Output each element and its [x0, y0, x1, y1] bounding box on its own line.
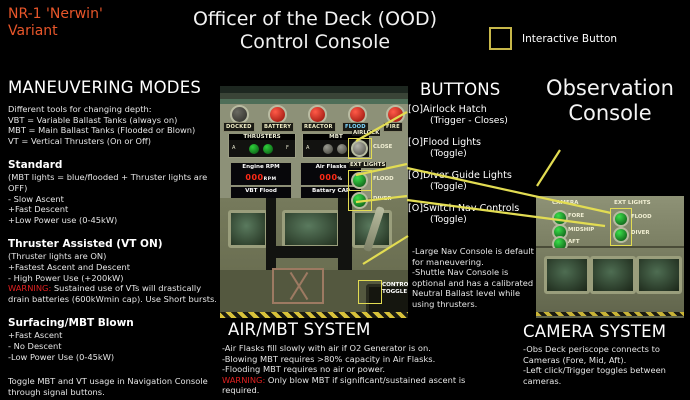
thrusters-mark-f: F	[286, 145, 289, 151]
bay-pillar-left	[266, 198, 276, 276]
camera-console-screenshot: CAMERA FORE MIDSHIP AFT EXT LIGHTS FLOOD…	[536, 196, 684, 318]
gauge-engine-rpm-value: 000RPM	[231, 172, 291, 185]
camera-system-notes: -Obs Deck periscope connects to Cameras …	[523, 344, 688, 386]
bay-window-left	[228, 210, 268, 248]
nav-note-0: -Large Nav Console is default for maneuv…	[412, 246, 540, 267]
console-green-strip	[220, 99, 408, 104]
camera-note-0: -Obs Deck periscope connects to Cameras …	[523, 344, 688, 365]
button-mode-airlock-hatch: (Trigger - Closes)	[408, 115, 543, 126]
button-mode-flood-lights: (Toggle)	[408, 148, 543, 159]
camera-screen-right	[636, 256, 682, 294]
maneuvering-intro-0: Different tools for changing depth:	[8, 104, 220, 115]
button-label-switch-nav-controls: Switch Nav Controls	[423, 203, 519, 214]
mode-thruster-line-2: - High Power Use (+200kW)	[8, 273, 220, 284]
bracket-1: [O]	[408, 137, 423, 148]
page-title-line2: Control Console	[150, 31, 480, 54]
hazard-stripe-bottom	[220, 312, 408, 318]
mode-standard-line-1: - Slow Ascent	[8, 194, 220, 205]
status-label-battery: BATTERY	[261, 122, 294, 132]
observation-console-title: Observation Console	[530, 76, 690, 126]
flood-lights-label: FLOOD	[373, 176, 394, 182]
bay-beam	[266, 246, 352, 258]
camera-panel-title: CAMERA	[552, 200, 578, 206]
console-lower-panel: CONTROL TOGGLE	[220, 198, 408, 318]
ext-flood-light-button[interactable]	[613, 211, 629, 227]
gauge-engine-rpm-label: Engine RPM	[231, 163, 291, 172]
variant-label: NR-1 'Nerwin' Variant	[8, 6, 148, 40]
airlock-hatch-button[interactable]	[351, 140, 368, 157]
thrusters-knob-right[interactable]	[263, 144, 273, 154]
legend-label: Interactive Button	[522, 33, 617, 45]
mbt-knob-right[interactable]	[337, 144, 347, 154]
camera-label-midship: MIDSHIP	[568, 227, 594, 233]
mode-thruster-line-1: +Fastest Ascent and Descent	[8, 262, 220, 273]
page-title: Officer of the Deck (OOD) Control Consol…	[150, 8, 480, 54]
control-toggle-label: CONTROL TOGGLE	[382, 282, 408, 296]
maneuvering-modes-section: MANEUVERING MODES Different tools for ch…	[8, 78, 220, 397]
button-label-flood-lights: Flood Lights	[423, 137, 481, 148]
page-title-line1: Officer of the Deck (OOD)	[150, 8, 480, 31]
diver-guide-lights-button[interactable]	[351, 192, 368, 209]
status-label-reactor: REACTOR	[301, 122, 336, 132]
airlock-title: AIRLOCK	[352, 130, 380, 136]
mode-thruster-warning: WARNING: Sustained use of VTs will drast…	[8, 283, 220, 304]
mode-standard-line-2: +Fast Descent	[8, 204, 220, 215]
button-mode-diver-guide-lights: (Toggle)	[408, 181, 543, 192]
air-mbt-warning-label: WARNING:	[222, 375, 265, 385]
button-entry-diver-guide-lights: [O]Diver Guide Lights (Toggle)	[408, 170, 543, 192]
ext-diver-light-button[interactable]	[613, 227, 629, 243]
legend: Interactive Button	[489, 27, 617, 50]
mode-standard-line-0: (MBT lights = blue/flooded + Thruster li…	[8, 172, 220, 193]
camera-label-aft: AFT	[568, 239, 580, 245]
camera-screen-left	[544, 256, 590, 294]
bay-table	[272, 268, 324, 304]
bracket-0: [O]	[408, 104, 423, 115]
mode-surfacing-name: Surfacing/MBT Blown	[8, 317, 220, 329]
camera-screen-center	[590, 256, 636, 294]
mode-surfacing-line-0: +Fast Ascent	[8, 330, 220, 341]
mode-thruster-line-0: (Thruster lights are ON)	[8, 251, 220, 262]
maneuvering-heading: MANEUVERING MODES	[8, 78, 220, 97]
console-upper-panel: DOCKED BATTERY REACTOR FLOOD FIRE THRUST…	[220, 86, 408, 198]
variant-label-line2: Variant	[8, 23, 148, 40]
button-label-airlock-hatch: Airlock Hatch	[423, 104, 487, 115]
air-mbt-note-2: -Flooding MBT requires no air or power.	[222, 364, 482, 375]
mbt-knob-left[interactable]	[323, 144, 333, 154]
flood-lights-button[interactable]	[351, 172, 368, 189]
maneuvering-intro-3: VT = Vertical Thrusters (On or Off)	[8, 136, 220, 147]
mode-standard-name: Standard	[8, 159, 220, 171]
airlock-close-label: CLOSE	[373, 144, 392, 150]
gauge-air-flasks-unit: %	[338, 177, 343, 182]
maneuvering-intro-2: MBT = Main Ballast Tanks (Flooded or Blo…	[8, 125, 220, 136]
camera-console-lower	[536, 248, 684, 318]
gauge-vbt-flood-label: VBT Flood	[231, 187, 291, 196]
hazard-stripe-camera	[536, 312, 684, 316]
button-entry-flood-lights: [O]Flood Lights (Toggle)	[408, 137, 543, 159]
bracket-3: [O]	[408, 203, 423, 214]
bay-wall	[220, 198, 408, 270]
nav-console-notes: -Large Nav Console is default for maneuv…	[412, 246, 540, 310]
mode-surfacing-line-2: -Low Power Use (0-45kW)	[8, 352, 220, 363]
buttons-heading: BUTTONS	[420, 80, 500, 99]
button-mode-switch-nav-controls: (Toggle)	[408, 214, 543, 225]
buttons-list: [O]Airlock Hatch (Trigger - Closes) [O]F…	[408, 104, 543, 236]
mode-thruster-name: Thruster Assisted (VT ON)	[8, 238, 220, 250]
camera-note-1: -Left click/Trigger toggles between came…	[523, 365, 688, 386]
button-entry-switch-nav-controls: [O]Switch Nav Controls (Toggle)	[408, 203, 543, 225]
status-lamp-row: DOCKED BATTERY REACTOR FLOOD FIRE	[220, 105, 408, 131]
thrusters-mark-a: A	[232, 145, 235, 151]
warning-label: WARNING:	[8, 283, 51, 293]
button-label-diver-guide-lights: Diver Guide Lights	[423, 170, 512, 181]
air-mbt-heading: AIR/MBT SYSTEM	[228, 320, 371, 339]
ood-console-screenshot: DOCKED BATTERY REACTOR FLOOD FIRE THRUST…	[216, 86, 408, 318]
camera-console-upper: CAMERA FORE MIDSHIP AFT EXT LIGHTS FLOOD…	[536, 196, 684, 248]
maneuvering-footer: Toggle MBT and VT usage in Navigation Co…	[8, 376, 220, 397]
control-toggle-highlight[interactable]	[358, 280, 382, 304]
air-mbt-warning: WARNING: Only blow MBT if significant/su…	[222, 375, 482, 396]
thrusters-knob-left[interactable]	[249, 144, 259, 154]
diver-lights-label: DIVER	[373, 196, 392, 202]
mode-standard-line-3: +Low Power use (0-45kW)	[8, 215, 220, 226]
status-label-docked: DOCKED	[223, 122, 255, 132]
gauge-engine-rpm-unit: RPM	[264, 177, 277, 182]
observation-title-line1: Observation	[530, 76, 690, 101]
gauge-engine-rpm: Engine RPM 000RPM	[230, 162, 292, 186]
ood-control-console-infographic: NR-1 'Nerwin' Variant Officer of the Dec…	[0, 0, 690, 400]
ext-lights-title: EXT LIGHTS	[349, 162, 386, 168]
button-entry-airlock-hatch: [O]Airlock Hatch (Trigger - Closes)	[408, 104, 543, 126]
variant-label-line1: NR-1 'Nerwin'	[8, 6, 148, 23]
nav-note-1: -Shuttle Nav Console is optional and has…	[412, 267, 540, 309]
observation-title-line2: Console	[530, 101, 690, 126]
air-mbt-note-0: -Air Flasks fill slowly with air if O2 G…	[222, 343, 482, 354]
air-mbt-notes: -Air Flasks fill slowly with air if O2 G…	[222, 343, 482, 396]
camera-system-heading: CAMERA SYSTEM	[523, 322, 666, 341]
bracket-2: [O]	[408, 170, 423, 181]
thrusters-toggle-title: THRUSTERS	[229, 134, 295, 140]
legend-swatch-interactive-button	[489, 27, 512, 50]
status-label-fire: FIRE	[383, 122, 403, 132]
mbt-mark-a: A	[306, 145, 309, 151]
ext-lights-panel-title: EXT LIGHTS	[614, 200, 651, 206]
thrusters-toggle[interactable]: THRUSTERS A F	[228, 134, 296, 158]
camera-label-fore: FORE	[568, 213, 584, 219]
ext-diver-light-label: DIVER	[631, 230, 650, 236]
mode-surfacing-line-1: - No Descent	[8, 341, 220, 352]
air-mbt-note-1: -Blowing MBT requires >80% capacity in A…	[222, 354, 482, 365]
bay-window-center	[282, 210, 340, 248]
maneuvering-intro-1: VBT = Variable Ballast Tanks (always on)	[8, 115, 220, 126]
ext-flood-light-label: FLOOD	[631, 214, 652, 220]
